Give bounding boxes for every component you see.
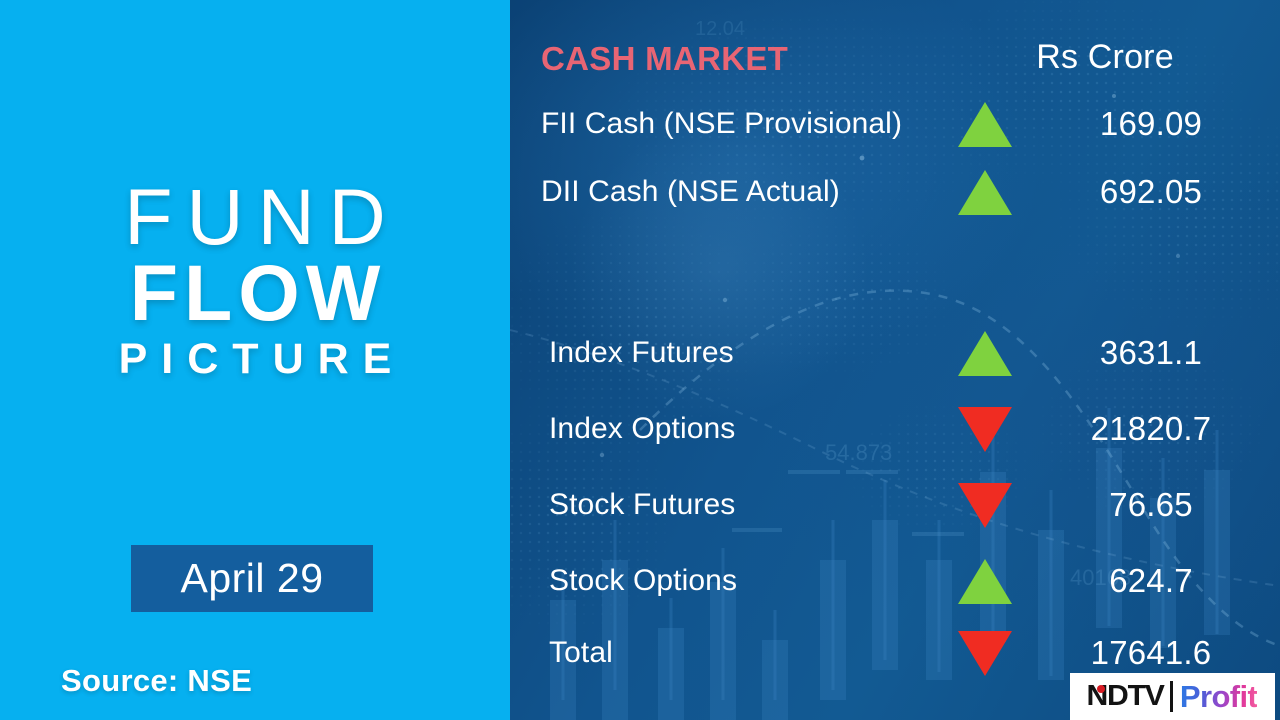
section-title-cash-market: CASH MARKET	[541, 40, 788, 78]
brand-title-block: FUND FLOW PICTURE	[0, 178, 510, 383]
row-label: Index Options	[549, 401, 735, 457]
row-label: Stock Futures	[549, 477, 735, 533]
arrow-up-icon	[930, 325, 1040, 381]
row-value: 624.7	[1040, 553, 1262, 609]
row-value: 76.65	[1040, 477, 1262, 533]
profit-wordmark: Profit	[1180, 679, 1257, 715]
arrow-down-icon	[930, 401, 1040, 457]
row-value: 3631.1	[1040, 325, 1262, 381]
arrow-up-icon	[930, 96, 1040, 152]
logo-divider	[1170, 681, 1173, 712]
row-label: DII Cash (NSE Actual)	[541, 164, 840, 220]
row-value: 169.09	[1040, 96, 1262, 152]
row-label: Total	[549, 625, 613, 681]
row-label: Index Futures	[549, 325, 734, 381]
unit-header-rs-crore: Rs Crore	[960, 38, 1250, 77]
table-row: Stock Futures 76.65	[510, 477, 1280, 533]
arrow-up-icon	[930, 553, 1040, 609]
table-row: DII Cash (NSE Actual) 692.05	[510, 164, 1280, 220]
ndtv-red-dot-icon	[1097, 685, 1105, 693]
row-value: 692.05	[1040, 164, 1262, 220]
fund-flow-picture-graphic: FUND FLOW PICTURE April 29 Source: NSE	[0, 0, 1280, 720]
brand-line-flow: FLOW	[0, 253, 510, 334]
row-value: 21820.7	[1040, 401, 1262, 457]
table-row: FII Cash (NSE Provisional) 169.09	[510, 96, 1280, 152]
row-label: Stock Options	[549, 553, 737, 609]
arrow-up-icon	[930, 164, 1040, 220]
data-panel: 54.873 40168 12.04 CASH MARKET Rs Crore …	[510, 0, 1280, 720]
left-branding-panel: FUND FLOW PICTURE April 29 Source: NSE	[0, 0, 510, 720]
arrow-down-icon	[930, 477, 1040, 533]
table-row: Stock Options 624.7	[510, 553, 1280, 609]
table-row: Index Futures 3631.1	[510, 325, 1280, 381]
arrow-down-icon	[930, 625, 1040, 681]
date-badge-label: April 29	[180, 555, 323, 602]
brand-line-fund: FUND	[0, 178, 510, 255]
ndtv-profit-logo: NDTV Profit	[1070, 673, 1275, 720]
row-label: FII Cash (NSE Provisional)	[541, 96, 902, 152]
source-label: Source: NSE	[61, 663, 252, 699]
date-badge: April 29	[131, 545, 373, 612]
table-row: Index Options 21820.7	[510, 401, 1280, 457]
brand-line-picture: PICTURE	[0, 336, 510, 383]
